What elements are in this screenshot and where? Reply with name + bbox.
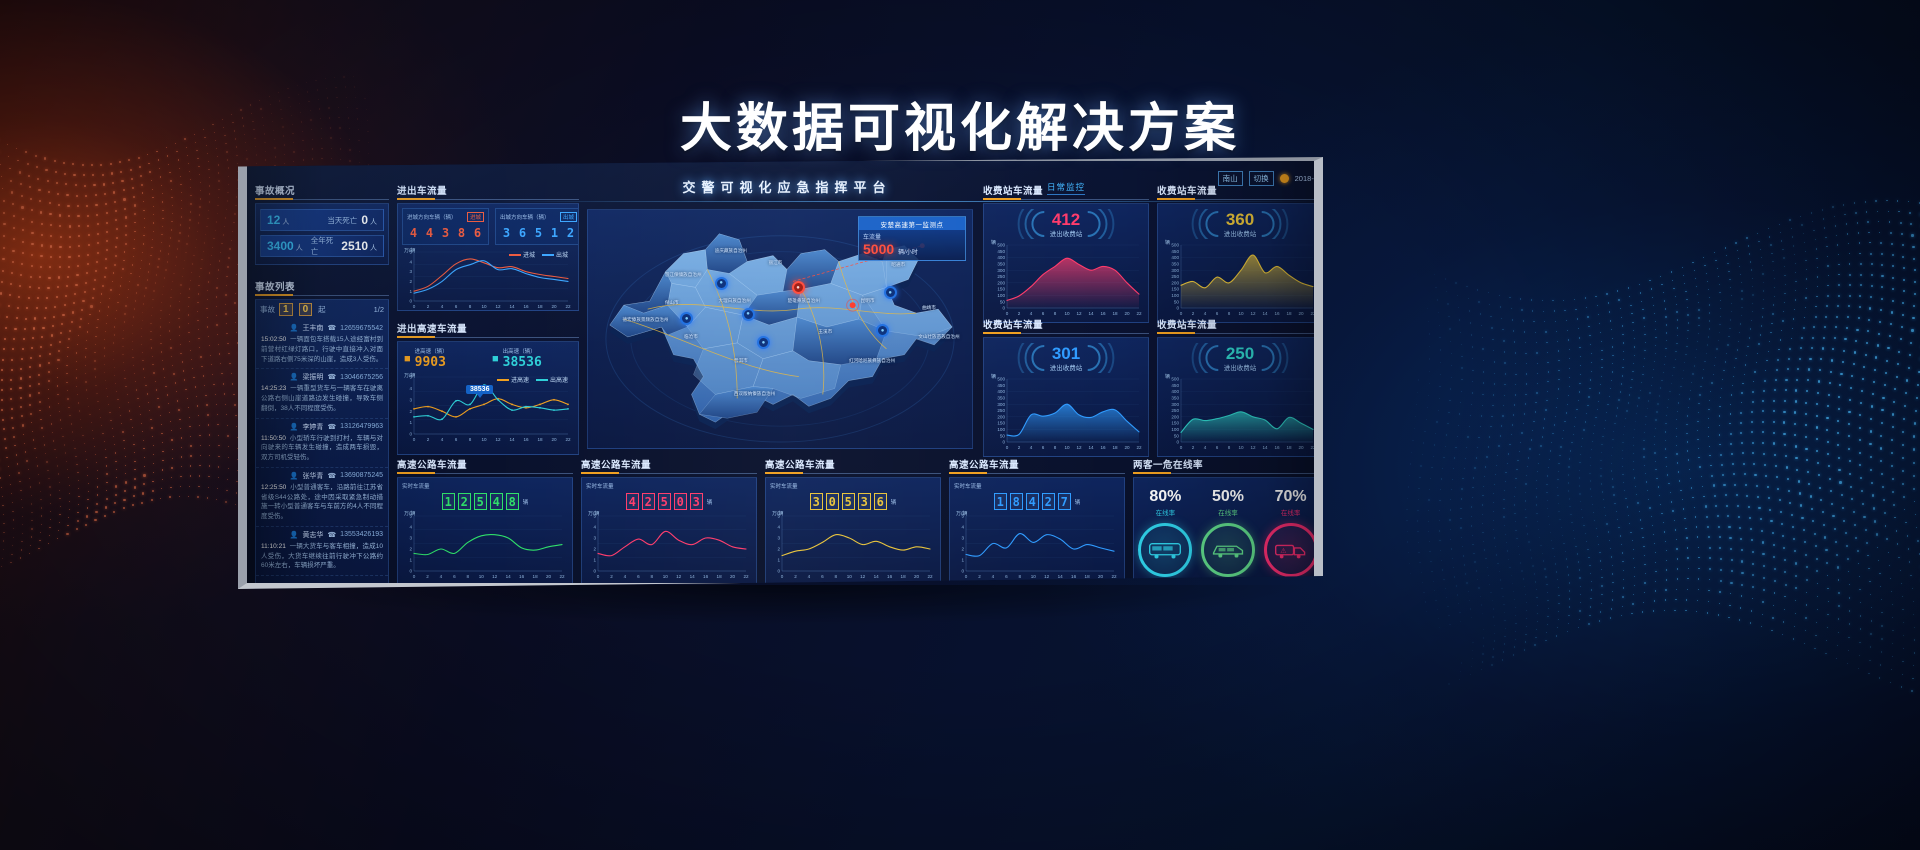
- counter-label: 进高速（辆）: [415, 347, 448, 355]
- accident-phone: 13126479963: [340, 423, 383, 430]
- expressway-chart: 万/辆进高速出高速385360123450246810121416182022: [402, 373, 574, 445]
- counter-digit: 4: [407, 224, 420, 241]
- peak-value-tag: 38536: [466, 385, 493, 394]
- svg-text:14: 14: [509, 304, 515, 309]
- counter-digit: 4: [423, 224, 436, 241]
- svg-text:18: 18: [537, 437, 543, 442]
- svg-text:250: 250: [997, 274, 1005, 279]
- svg-text:16: 16: [523, 304, 529, 309]
- svg-text:10: 10: [1064, 445, 1070, 450]
- svg-text:0: 0: [1006, 311, 1009, 316]
- svg-text:10: 10: [1031, 574, 1037, 579]
- svg-text:16: 16: [1100, 445, 1106, 450]
- svg-text:1: 1: [593, 558, 596, 563]
- svg-text:18: 18: [1286, 445, 1292, 450]
- digit-counter: 30536: [810, 493, 887, 510]
- svg-text:500: 500: [1171, 243, 1179, 248]
- stat-unit: 人: [296, 243, 303, 253]
- expressway-counter-in: ■进高速（辆）9903: [404, 347, 484, 370]
- svg-text:0: 0: [413, 574, 416, 579]
- svg-text:450: 450: [997, 383, 1005, 388]
- svg-text:200: 200: [1171, 414, 1179, 419]
- online-rate-percent: 50%: [1197, 488, 1259, 506]
- counter-digit: 8: [1010, 493, 1023, 510]
- svg-text:50: 50: [1174, 433, 1180, 438]
- svg-text:1: 1: [961, 558, 964, 563]
- panel-highway-4: 高速公路车流量 实时车流量18427辆万/辆012345024681012141…: [949, 457, 1125, 589]
- coach-icon: [1201, 523, 1255, 577]
- counter-badge: 进城: [467, 212, 484, 222]
- svg-text:0: 0: [413, 437, 416, 442]
- svg-text:0: 0: [961, 569, 964, 574]
- accident-time: 12:25:50: [261, 484, 286, 491]
- accident-contact: 👤黄志华☎13553426193: [261, 530, 383, 540]
- list-item[interactable]: 👤张华青☎1369087524512:25:50 小型普通客车，沿路前往江苏省省…: [256, 468, 388, 527]
- counter-label: 进城方向车辆（辆）: [407, 213, 457, 221]
- svg-text:4: 4: [961, 525, 964, 530]
- accident-contact: 👤李婷青☎13126479963: [261, 422, 383, 432]
- page-title: 大数据可视化解决方案: [0, 86, 1920, 161]
- highway-unit: 辆: [891, 498, 897, 506]
- svg-text:400: 400: [997, 255, 1005, 260]
- accident-reporter: 李婷青: [302, 422, 323, 432]
- svg-text:12: 12: [495, 437, 501, 442]
- svg-text:14: 14: [690, 574, 696, 579]
- accident-phone: 13553426193: [340, 531, 383, 538]
- digit-counter: 36512: [500, 224, 577, 241]
- svg-text:20: 20: [546, 574, 552, 579]
- panel-toll-1: 收费站车流量 412进出收费站辆050100150200250300350400…: [983, 183, 1149, 323]
- map-camera-pin[interactable]: ●: [715, 277, 728, 290]
- online-rate-item[interactable]: 50%在线率旅游客车6000: [1197, 488, 1259, 589]
- highway-chart: 万/辆0123450246810121416182022: [770, 512, 936, 582]
- list-item[interactable]: 👤李婷青☎1312647996311:50:50 小型轿车行驶到打村，车辆与对向…: [256, 419, 388, 468]
- svg-text:16: 16: [703, 574, 709, 579]
- map-city-label: 玉溪市: [818, 329, 832, 335]
- svg-text:14: 14: [1088, 445, 1094, 450]
- svg-text:18: 18: [533, 574, 539, 579]
- toll-body: 301进出收费站辆0501001502002503003504004505000…: [983, 337, 1149, 457]
- svg-text:4: 4: [409, 386, 412, 391]
- panel-title: 收费站车流量: [983, 317, 1149, 334]
- highway-body: 实时车流量12548辆万/辆0123450246810121416182022: [397, 477, 573, 589]
- svg-text:22: 22: [743, 574, 749, 579]
- svg-text:3: 3: [593, 536, 596, 541]
- highway-chart: 万/辆0123450246810121416182022: [402, 512, 568, 582]
- svg-text:16: 16: [519, 574, 525, 579]
- svg-text:4: 4: [441, 304, 444, 309]
- svg-text:2: 2: [794, 574, 797, 579]
- map-body[interactable]: 迪庆藏族自治州怒江傈僳族自治州丽江市昭通市大理白族自治州楚雄彝族自治州昆明市曲靖…: [587, 209, 973, 449]
- highway-unit: 辆: [1075, 498, 1081, 506]
- svg-text:8: 8: [1228, 445, 1231, 450]
- map-camera-pin[interactable]: ●: [742, 308, 755, 321]
- svg-text:150: 150: [997, 287, 1005, 292]
- phone-icon: ☎: [327, 324, 336, 332]
- svg-text:22: 22: [1310, 311, 1316, 316]
- counter-digit: 1: [442, 493, 455, 510]
- svg-text:0: 0: [1180, 445, 1183, 450]
- svg-text:450: 450: [1171, 383, 1179, 388]
- svg-text:2: 2: [427, 437, 430, 442]
- map-city-label: 昆明市: [861, 298, 875, 304]
- counter-digit: 5: [658, 493, 671, 510]
- accident-description: 12:25:50 小型普通客车，沿路前往江苏省省级S44公路处，途中因采取紧急制…: [261, 483, 383, 522]
- svg-text:16: 16: [1071, 574, 1077, 579]
- svg-text:500: 500: [997, 243, 1005, 248]
- svg-text:0: 0: [781, 574, 784, 579]
- video-wall: 交警可视化应急指挥平台 日常监控 南山 切换 2018-0 事故概况 12人当天…: [238, 157, 1323, 589]
- stat-unit: 人: [282, 217, 289, 227]
- svg-text:6: 6: [453, 574, 456, 579]
- svg-text:350: 350: [1171, 262, 1179, 267]
- legend-entry: 出城: [542, 250, 568, 259]
- svg-text:2: 2: [409, 409, 412, 414]
- svg-text:20: 20: [914, 574, 920, 579]
- svg-text:200: 200: [997, 280, 1005, 285]
- svg-text:0: 0: [965, 574, 968, 579]
- svg-text:8: 8: [1054, 445, 1057, 450]
- stat-unit: 人: [370, 243, 377, 253]
- svg-text:4: 4: [808, 574, 811, 579]
- svg-text:6: 6: [455, 304, 458, 309]
- svg-text:1: 1: [409, 289, 412, 294]
- accident-contact: 👤梁振明☎13046675256: [261, 372, 383, 382]
- counter-digit: 5: [842, 493, 855, 510]
- map-camera-pin[interactable]: ●: [884, 286, 897, 299]
- svg-text:4: 4: [992, 574, 995, 579]
- svg-text:2: 2: [961, 547, 964, 552]
- svg-text:14: 14: [509, 437, 515, 442]
- svg-text:6: 6: [455, 437, 458, 442]
- svg-text:150: 150: [997, 421, 1005, 426]
- svg-text:350: 350: [997, 396, 1005, 401]
- camera-icon: ●: [685, 316, 689, 322]
- svg-text:1: 1: [777, 558, 780, 563]
- svg-text:4: 4: [777, 525, 780, 530]
- person-icon: 👤: [290, 324, 299, 332]
- svg-text:10: 10: [1064, 311, 1070, 316]
- svg-text:4: 4: [593, 525, 596, 530]
- svg-text:100: 100: [1171, 427, 1179, 432]
- yunnan-map[interactable]: 迪庆藏族自治州怒江傈僳族自治州丽江市昭通市大理白族自治州楚雄彝族自治州昆明市曲靖…: [588, 210, 972, 448]
- svg-text:8: 8: [1228, 311, 1231, 316]
- phone-icon: ☎: [327, 531, 336, 539]
- accident-overview-body: 12人当天死亡0人3400人全年死亡2510人: [255, 203, 389, 265]
- accident-phone: 12659675542: [340, 325, 383, 332]
- svg-text:14: 14: [1058, 574, 1064, 579]
- counter-digit: 1: [548, 224, 561, 241]
- map-alert-pin[interactable]: ●: [792, 281, 805, 294]
- stat-primary: 12人: [267, 213, 289, 227]
- counter-digit: 0: [674, 493, 687, 510]
- map-city-label: 西双版纳傣族自治州: [734, 391, 775, 397]
- svg-text:20: 20: [1124, 311, 1130, 316]
- online-rate-item[interactable]: 70%在线率⚠危险品车5000: [1260, 488, 1322, 589]
- y-axis-unit: 万/辆: [956, 510, 967, 517]
- svg-text:6: 6: [821, 574, 824, 579]
- camera-icon: ●: [888, 290, 892, 296]
- camera-icon: ●: [881, 328, 885, 334]
- svg-text:12: 12: [1076, 311, 1082, 316]
- svg-text:0: 0: [409, 299, 412, 304]
- svg-text:3: 3: [409, 536, 412, 541]
- phone-icon: ☎: [327, 423, 336, 431]
- svg-text:300: 300: [997, 268, 1005, 273]
- counter-digit: 5: [474, 493, 487, 510]
- svg-text:12: 12: [860, 574, 866, 579]
- accident-contact: 👤王丰南☎12659675542: [261, 323, 383, 333]
- accident-description: 14:25:23 一辆重型货车与一辆客车在驶离公路右侧山崖道路边发生碰撞，导致车…: [261, 384, 383, 413]
- accident-description: 15:02:50 一辆面包车搭载15人途经富村到前营村红绿灯路口，行驶中直接冲入…: [261, 335, 383, 364]
- map-city-label: 德宏傣族景颇族自治州: [623, 317, 669, 323]
- svg-text:22: 22: [927, 574, 933, 579]
- accident-count-digit: 0: [299, 303, 313, 316]
- panel-title: 收费站车流量: [1157, 183, 1323, 200]
- svg-text:2: 2: [1018, 311, 1021, 316]
- online-rate-item[interactable]: 80%在线率班线客车50000: [1134, 488, 1196, 589]
- svg-text:4: 4: [1204, 445, 1207, 450]
- map-city-label: 昭通市: [891, 262, 905, 268]
- phone-icon: ☎: [327, 373, 336, 381]
- highway-flow-label: 实时车流量: [954, 482, 1120, 490]
- highway-unit: 辆: [523, 498, 529, 506]
- svg-text:8: 8: [1054, 311, 1057, 316]
- accident-description: 11:10:21 一辆大货车与客车相撞，造成10人受伤，大货车继续往前行驶冲下公…: [261, 542, 383, 571]
- svg-text:12: 12: [1250, 311, 1256, 316]
- chart-legend: 进城出城: [509, 250, 568, 259]
- panel-map: 迪庆藏族自治州怒江傈僳族自治州丽江市昭通市大理白族自治州楚雄彝族自治州昆明市曲靖…: [587, 209, 973, 449]
- counter-value: 38536: [503, 355, 542, 370]
- svg-text:2: 2: [427, 304, 430, 309]
- panel-title: 事故概况: [255, 183, 389, 200]
- svg-text:50: 50: [1000, 433, 1006, 438]
- svg-text:18: 18: [901, 574, 907, 579]
- counter-digit: 4: [626, 493, 639, 510]
- panel-title: 高速公路车流量: [765, 457, 941, 474]
- highway-body: 实时车流量30536辆万/辆0123450246810121416182022: [765, 477, 941, 589]
- svg-text:22: 22: [1136, 445, 1142, 450]
- svg-text:0: 0: [409, 432, 412, 437]
- legend-entry: 进城: [509, 250, 535, 259]
- counter-digit: 8: [506, 493, 519, 510]
- toll-indicator: 360进出收费站: [1161, 207, 1319, 241]
- svg-text:3: 3: [777, 536, 780, 541]
- counter-digit: 6: [471, 224, 484, 241]
- svg-text:300: 300: [1171, 268, 1179, 273]
- list-item[interactable]: 👤梁振明☎1304667525614:25:23 一辆重型货车与一辆客车在驶离公…: [256, 369, 388, 418]
- svg-text:100: 100: [997, 293, 1005, 298]
- toll-value: 301: [987, 344, 1145, 364]
- toll-sublabel: 进出收费站: [1161, 362, 1319, 372]
- map-camera-pin[interactable]: ●: [757, 336, 770, 349]
- legend-entry: 进高速: [497, 375, 529, 384]
- svg-text:6: 6: [1042, 311, 1045, 316]
- svg-text:3: 3: [409, 269, 412, 274]
- svg-text:0: 0: [593, 569, 596, 574]
- accident-reporter: 张华青: [302, 471, 323, 481]
- svg-text:14: 14: [506, 574, 512, 579]
- svg-text:10: 10: [1238, 445, 1244, 450]
- toll-chart: 辆050100150200250300350400450500024681012…: [1161, 241, 1319, 319]
- svg-text:6: 6: [1216, 311, 1219, 316]
- panel-title: 高速公路车流量: [397, 457, 573, 474]
- svg-text:18: 18: [537, 304, 543, 309]
- counter-digit: 6: [516, 224, 529, 241]
- svg-text:200: 200: [997, 414, 1005, 419]
- person-icon: 👤: [290, 472, 299, 480]
- svg-text:0: 0: [597, 574, 600, 579]
- toll-chart: 辆050100150200250300350400450500024681012…: [1161, 375, 1319, 453]
- svg-text:18: 18: [717, 574, 723, 579]
- panel-title: 收费站车流量: [983, 183, 1149, 200]
- accident-reporter: 梁振明: [302, 372, 323, 382]
- counter-digit: 7: [1058, 493, 1071, 510]
- map-city-label: 临沧市: [684, 334, 698, 340]
- svg-text:4: 4: [1204, 311, 1207, 316]
- accident-time: 11:50:50: [261, 435, 286, 442]
- stat-primary: 3400人: [267, 239, 303, 253]
- counter-digit: 3: [810, 493, 823, 510]
- svg-text:10: 10: [481, 437, 487, 442]
- stat-row: 3400人全年死亡2510人: [260, 235, 384, 257]
- svg-text:500: 500: [997, 377, 1005, 382]
- svg-text:0: 0: [1002, 306, 1005, 311]
- highway-chart: 万/辆0123450246810121416182022: [954, 512, 1120, 582]
- panel-expressway-inout: 进出高速车流量 ■进高速（辆）9903■出高速（辆）38536万/辆进高速出高速…: [397, 321, 579, 455]
- online-rate-name: 危险品车: [1260, 581, 1322, 589]
- counter-digit: 3: [500, 224, 513, 241]
- online-rate-percent: 70%: [1260, 488, 1322, 506]
- list-item[interactable]: 👤黄志华☎1355342619311:10:21 一辆大货车与客车相撞，造成10…: [256, 527, 388, 576]
- map-city-label: 保山市: [665, 300, 679, 306]
- svg-text:14: 14: [1262, 311, 1268, 316]
- digit-counter: 42503: [626, 493, 703, 510]
- svg-text:16: 16: [523, 437, 529, 442]
- digit-counter: 18427: [994, 493, 1071, 510]
- highway-flow-label: 实时车流量: [770, 482, 936, 490]
- stat-secondary: 2510人: [341, 239, 377, 253]
- y-axis-unit: 万/辆: [772, 510, 783, 517]
- panel-title: 收费站车流量: [1157, 317, 1323, 334]
- highway-unit: 辆: [707, 498, 713, 506]
- svg-text:2: 2: [1192, 445, 1195, 450]
- expressway-counter-out: ■出高速（辆）38536: [492, 347, 572, 370]
- map-city-label: 迪庆藏族自治州: [715, 248, 747, 254]
- toll-value: 412: [987, 210, 1145, 230]
- svg-text:12: 12: [1044, 574, 1050, 579]
- svg-text:14: 14: [874, 574, 880, 579]
- toll-sublabel: 进出收费站: [987, 228, 1145, 238]
- online-rate-sublabel: 在线率: [1260, 507, 1322, 517]
- accident-list-body[interactable]: 事故10起1/2👤王丰南☎1265967554215:02:50 一辆面包车搭载…: [255, 299, 389, 587]
- dashboard: 交警可视化应急指挥平台 日常监控 南山 切换 2018-0 事故概况 12人当天…: [247, 161, 1323, 589]
- panel-title: 进出车流量: [397, 183, 579, 200]
- svg-text:10: 10: [847, 574, 853, 579]
- callout-value: 5000: [863, 241, 894, 257]
- accident-reporter: 黄志华: [302, 530, 323, 540]
- y-axis-unit: 辆: [1165, 373, 1170, 380]
- svg-text:12: 12: [495, 304, 501, 309]
- traffic-light-icon: ■: [404, 353, 411, 365]
- svg-text:14: 14: [1088, 311, 1094, 316]
- highway-body: 实时车流量42503辆万/辆0123450246810121416182022: [581, 477, 757, 589]
- callout-title: 安楚高速第一监测点: [859, 217, 965, 230]
- svg-text:300: 300: [1171, 402, 1179, 407]
- svg-text:0: 0: [409, 569, 412, 574]
- panel-accident-overview: 事故概况 12人当天死亡0人3400人全年死亡2510人: [255, 183, 389, 265]
- inout-counter-out: 出城方向车辆（辆）出城36512: [495, 208, 579, 245]
- svg-text:100: 100: [997, 427, 1005, 432]
- svg-text:8: 8: [835, 574, 838, 579]
- accident-phone: 13690875245: [340, 472, 383, 479]
- svg-text:150: 150: [1171, 287, 1179, 292]
- svg-text:8: 8: [651, 574, 654, 579]
- counter-digit: 8: [455, 224, 468, 241]
- chart-legend: 进高速出高速: [497, 375, 568, 384]
- list-item[interactable]: 👤王丰南☎1265967554215:02:50 一辆面包车搭载15人途经富村到…: [256, 320, 388, 369]
- y-axis-unit: 辆: [1165, 239, 1170, 246]
- toll-indicator: 301进出收费站: [987, 341, 1145, 375]
- svg-text:22: 22: [1310, 445, 1316, 450]
- svg-text:16: 16: [1274, 311, 1280, 316]
- panel-title: 高速公路车流量: [581, 457, 757, 474]
- svg-text:2: 2: [978, 574, 981, 579]
- legend-entry: 出高速: [536, 375, 568, 384]
- svg-text:400: 400: [997, 389, 1005, 394]
- panel-highway-1: 高速公路车流量 实时车流量12548辆万/辆012345024681012141…: [397, 457, 573, 589]
- person-icon: 👤: [290, 531, 299, 539]
- map-city-label: 曲靖市: [922, 305, 936, 311]
- y-axis-unit: 万/辆: [588, 510, 599, 517]
- svg-text:0: 0: [1176, 440, 1179, 445]
- stat-label: 全年死亡: [311, 235, 338, 257]
- counter-digit: 4: [490, 493, 503, 510]
- svg-text:20: 20: [551, 304, 557, 309]
- online-rate-items: 80%在线率班线客车5000050%在线率旅游客车600070%在线率⚠危险品车…: [1134, 478, 1322, 588]
- inout-flow-body: 进城方向车辆（辆）进城44386出城方向车辆（辆）出城36512万/辆进城出城0…: [397, 203, 579, 311]
- gear-icon[interactable]: [1280, 174, 1289, 183]
- counter-digit: 3: [439, 224, 452, 241]
- dashboard-header: 交警可视化应急指挥平台 日常监控: [547, 177, 1027, 203]
- online-rate-name: 班线客车: [1134, 581, 1196, 589]
- toll-chart: 辆050100150200250300350400450500024681012…: [987, 375, 1145, 453]
- toll-value: 360: [1161, 210, 1319, 230]
- svg-text:20: 20: [1124, 445, 1130, 450]
- toll-value: 250: [1161, 344, 1319, 364]
- accident-contact: 👤张华青☎13690875245: [261, 471, 383, 481]
- svg-text:12: 12: [1076, 445, 1082, 450]
- svg-text:8: 8: [469, 437, 472, 442]
- y-axis-unit: 辆: [991, 373, 996, 380]
- highway-chart: 万/辆0123450246810121416182022: [586, 512, 752, 582]
- screen-floor-shadow: [250, 585, 1320, 625]
- svg-text:150: 150: [1171, 421, 1179, 426]
- svg-text:0: 0: [777, 569, 780, 574]
- toll-sublabel: 进出收费站: [1161, 228, 1319, 238]
- pagination-label[interactable]: 1/2: [374, 305, 384, 314]
- panel-highway-3: 高速公路车流量 实时车流量30536辆万/辆012345024681012141…: [765, 457, 941, 589]
- accident-time: 11:10:21: [261, 543, 286, 550]
- traffic-light-icon: ■: [492, 353, 499, 365]
- accident-time: 15:02:50: [261, 336, 286, 343]
- bus-icon: [1138, 523, 1192, 577]
- expressway-counters: ■进高速（辆）9903■出高速（辆）38536: [402, 346, 574, 371]
- camera-icon: ●: [746, 311, 750, 317]
- svg-text:20: 20: [1298, 445, 1304, 450]
- svg-text:2: 2: [1018, 445, 1021, 450]
- counter-digit: 1: [994, 493, 1007, 510]
